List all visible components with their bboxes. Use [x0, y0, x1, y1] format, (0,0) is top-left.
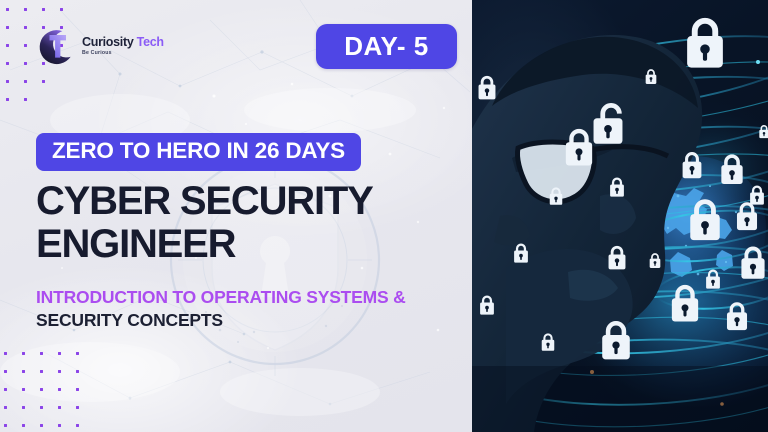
day-badge: DAY- 5 [316, 24, 457, 69]
curiosity-tech-c-t-monogram-icon [34, 24, 80, 70]
day-badge-label: DAY- 5 [344, 31, 428, 62]
page-subtitle-dark: SECURITY CONCEPTS [36, 310, 223, 330]
padlock-icon [479, 77, 496, 99]
page-subtitle-accent: INTRODUCTION TO OPERATING SYSTEMS & [36, 287, 406, 307]
page-title: CYBER SECURITY ENGINEER [36, 180, 456, 266]
brand-name-part2: Tech [137, 35, 164, 49]
series-badge: ZERO TO HERO IN 26 DAYS [36, 133, 361, 171]
page-subtitle: INTRODUCTION TO OPERATING SYSTEMS & SECU… [36, 286, 456, 332]
brand-wordmark: Curiosity Tech Be Curious [82, 35, 164, 56]
thumbnail-canvas: Curiosity Tech Be Curious ZERO TO HERO I… [0, 0, 768, 432]
page-title-line1: CYBER SECURITY [36, 179, 373, 223]
brand-name-part1: Curiosity [82, 35, 133, 49]
page-title-line2: ENGINEER [36, 223, 456, 266]
cybersecurity-hero-image [472, 0, 768, 432]
series-badge-label: ZERO TO HERO IN 26 DAYS [52, 138, 345, 164]
brand-logo[interactable]: Curiosity Tech Be Curious [34, 24, 164, 72]
hero-artwork-panel [472, 0, 768, 432]
padlock-icon [687, 21, 723, 68]
brand-tagline: Be Curious [82, 50, 164, 56]
